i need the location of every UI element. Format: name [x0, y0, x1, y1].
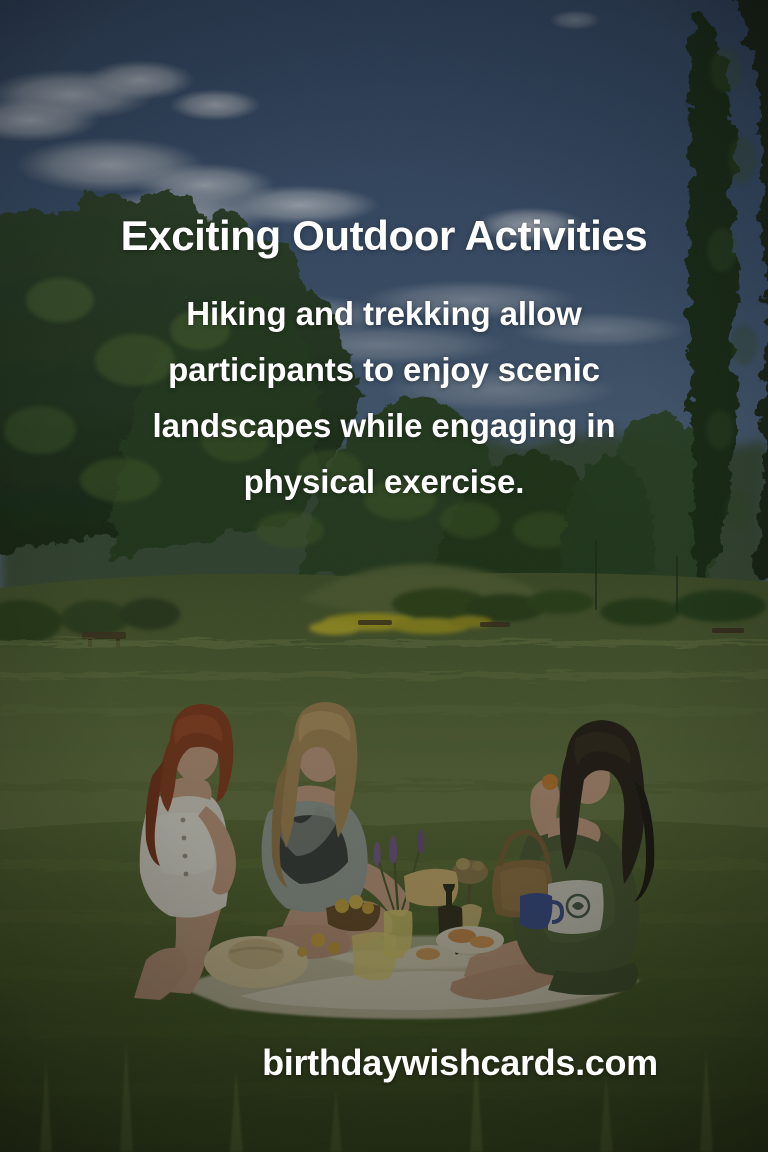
headline: Exciting Outdoor Activities	[0, 213, 768, 259]
body-line-1: Hiking and trekking allow	[0, 286, 768, 342]
social-card: Exciting Outdoor Activities Hiking and t…	[0, 0, 768, 1152]
background-photo	[0, 0, 768, 1152]
website-url: birthdaywishcards.com	[76, 1042, 768, 1084]
film-grain	[0, 0, 768, 1152]
body-line-3: landscapes while engaging in	[0, 398, 768, 454]
body-line-4: physical exercise.	[0, 454, 768, 510]
body-line-2: participants to enjoy scenic	[0, 342, 768, 398]
body-copy: Hiking and trekking allow participants t…	[0, 286, 768, 510]
